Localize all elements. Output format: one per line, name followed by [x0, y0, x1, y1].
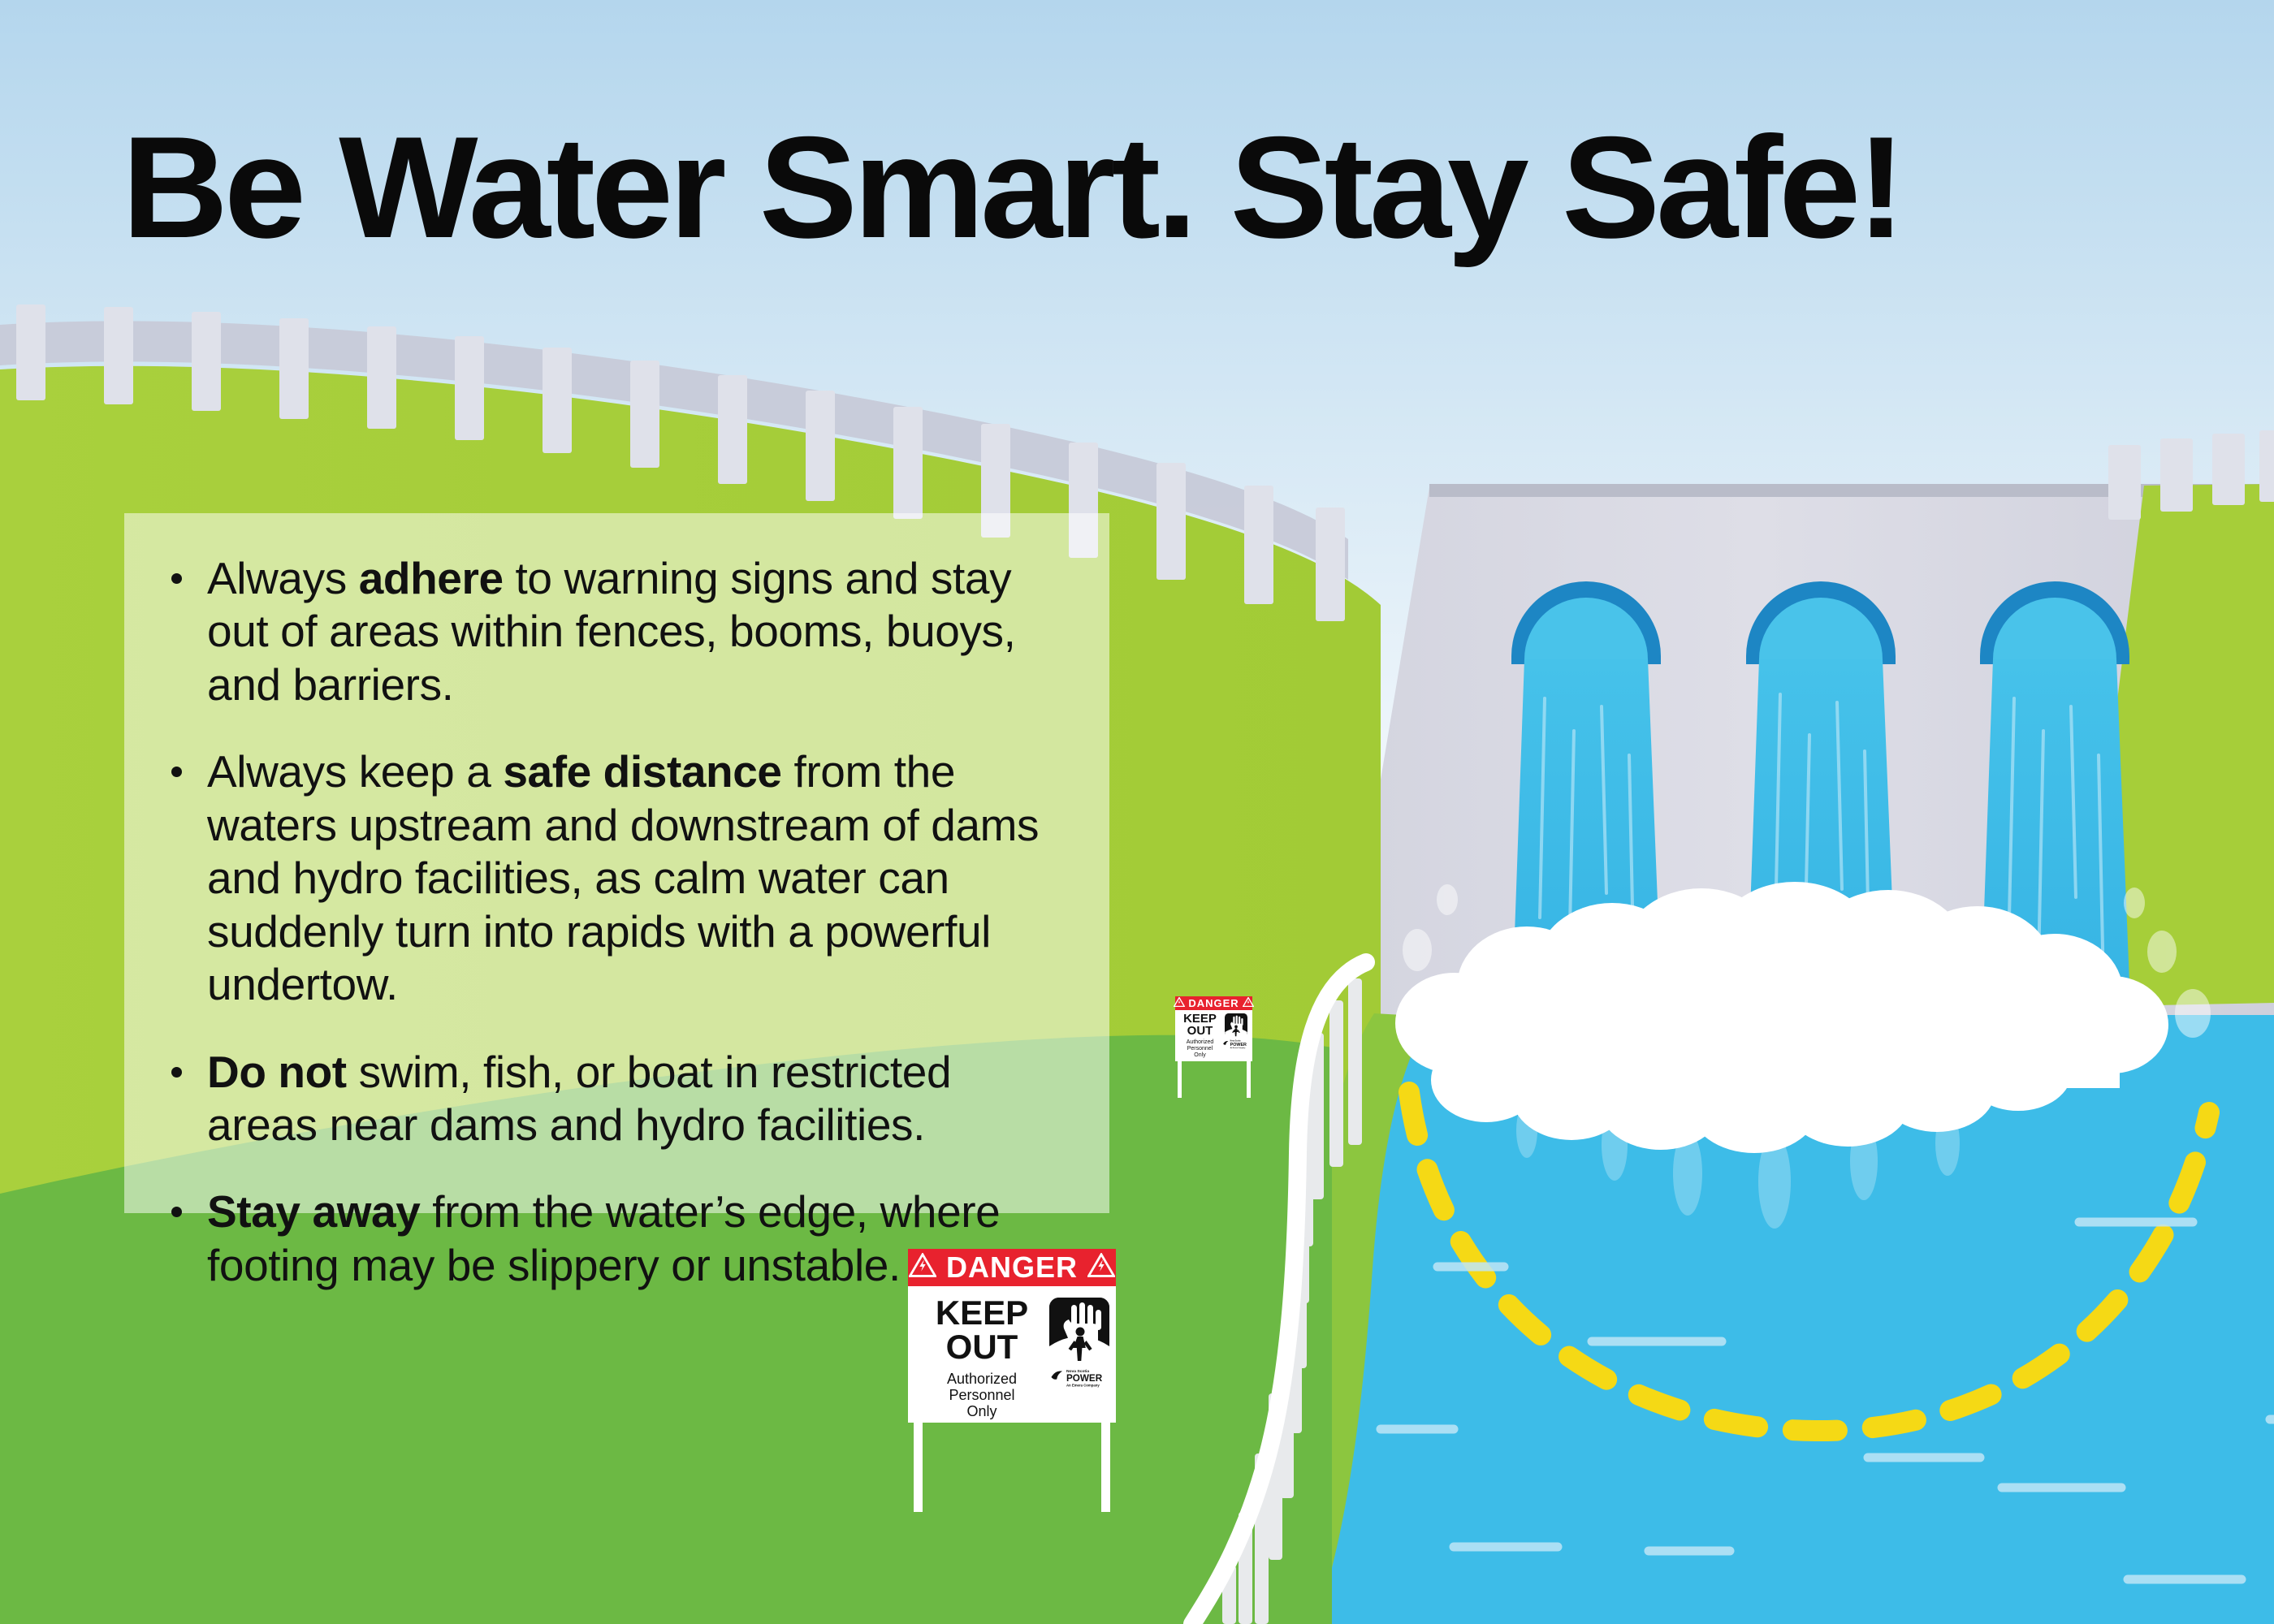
danger-banner: DANGER	[1175, 996, 1252, 1010]
tip-seg: Always keep a	[207, 746, 503, 797]
warning-triangle-icon	[1174, 997, 1185, 1009]
authorized-personnel-label: Authorized Personnel Only	[947, 1371, 1017, 1419]
safety-tips-panel: Always adhere to warning signs and stay …	[124, 513, 1109, 1213]
svg-text:POWER: POWER	[1066, 1373, 1103, 1384]
nova-scotia-power-logo: Nova Scotia POWER An Emera Company	[1222, 1039, 1250, 1049]
tip-seg: Always	[207, 553, 359, 603]
fence-posts-right	[2108, 430, 2274, 520]
danger-sign-small: DANGER KEEP OUT Authorized Personnel Onl…	[1175, 996, 1252, 1061]
danger-banner: DANGER	[908, 1249, 1116, 1286]
no-contact-electrical-hand-icon	[1225, 1013, 1247, 1037]
bullet-dot-icon	[171, 1067, 182, 1078]
sign-post-right	[1247, 1061, 1251, 1098]
bullet-dot-icon	[171, 573, 182, 584]
danger-label: DANGER	[946, 1250, 1078, 1285]
sign-pictogram-column: Nova Scotia POWER An Emera Company	[1222, 1013, 1250, 1061]
tip-text-0: Always adhere to warning signs and stay …	[207, 553, 1016, 710]
tip-emphasis: Stay away	[207, 1186, 420, 1237]
tip-text-1: Always keep a safe distance from the wat…	[207, 746, 1039, 1009]
sign-body: KEEP OUT Authorized Personnel Only	[1175, 1010, 1252, 1061]
list-item: Always adhere to warning signs and stay …	[160, 552, 1062, 711]
tip-text-3: Stay away from the water’s edge, where f…	[207, 1186, 1000, 1289]
sign-pictogram-column: Nova Scotia POWER An Emera Company	[1049, 1294, 1109, 1423]
tip-emphasis: safe distance	[503, 746, 781, 797]
sign-text-column: KEEP OUT Authorized Personnel Only	[1178, 1013, 1222, 1061]
no-contact-electrical-hand-icon	[1049, 1298, 1109, 1361]
tip-emphasis: Do not	[207, 1047, 347, 1097]
danger-sign-large: DANGER KEEP OUT Authorized Personnel Onl…	[908, 1249, 1116, 1423]
bullet-dot-icon	[171, 767, 182, 777]
list-item: Always keep a safe distance from the wat…	[160, 745, 1062, 1011]
page-title: Be Water Smart. Stay Safe!	[122, 104, 1902, 270]
tip-emphasis: adhere	[359, 553, 504, 603]
warning-triangle-icon	[1087, 1250, 1115, 1285]
nova-scotia-power-logo: Nova Scotia POWER An Emera Company	[1049, 1366, 1109, 1389]
sign-post-left	[914, 1423, 923, 1512]
sign-post-right	[1101, 1423, 1110, 1512]
svg-text:POWER: POWER	[1230, 1043, 1247, 1047]
poster-canvas: Be Water Smart. Stay Safe! Always adhere…	[0, 0, 2274, 1624]
svg-text:An Emera Company: An Emera Company	[1066, 1384, 1100, 1388]
warning-triangle-icon	[909, 1250, 936, 1285]
keep-out-label: KEEP OUT	[1183, 1013, 1217, 1037]
warning-triangle-icon	[1243, 997, 1254, 1009]
sign-post-left	[1178, 1061, 1182, 1098]
bullet-dot-icon	[171, 1207, 182, 1217]
keep-out-label: KEEP OUT	[936, 1296, 1028, 1364]
authorized-personnel-label: Authorized Personnel Only	[1187, 1039, 1213, 1058]
danger-label: DANGER	[1188, 997, 1239, 1009]
svg-text:Nova Scotia: Nova Scotia	[1230, 1040, 1242, 1043]
sign-text-column: KEEP OUT Authorized Personnel Only	[914, 1294, 1049, 1423]
tip-text-2: Do not swim, fish, or boat in restricted…	[207, 1047, 951, 1150]
list-item: Do not swim, fish, or boat in restricted…	[160, 1046, 1062, 1152]
sign-body: KEEP OUT Authorized Personnel Only	[908, 1286, 1116, 1423]
safety-tips-list: Always adhere to warning signs and stay …	[160, 552, 1062, 1292]
